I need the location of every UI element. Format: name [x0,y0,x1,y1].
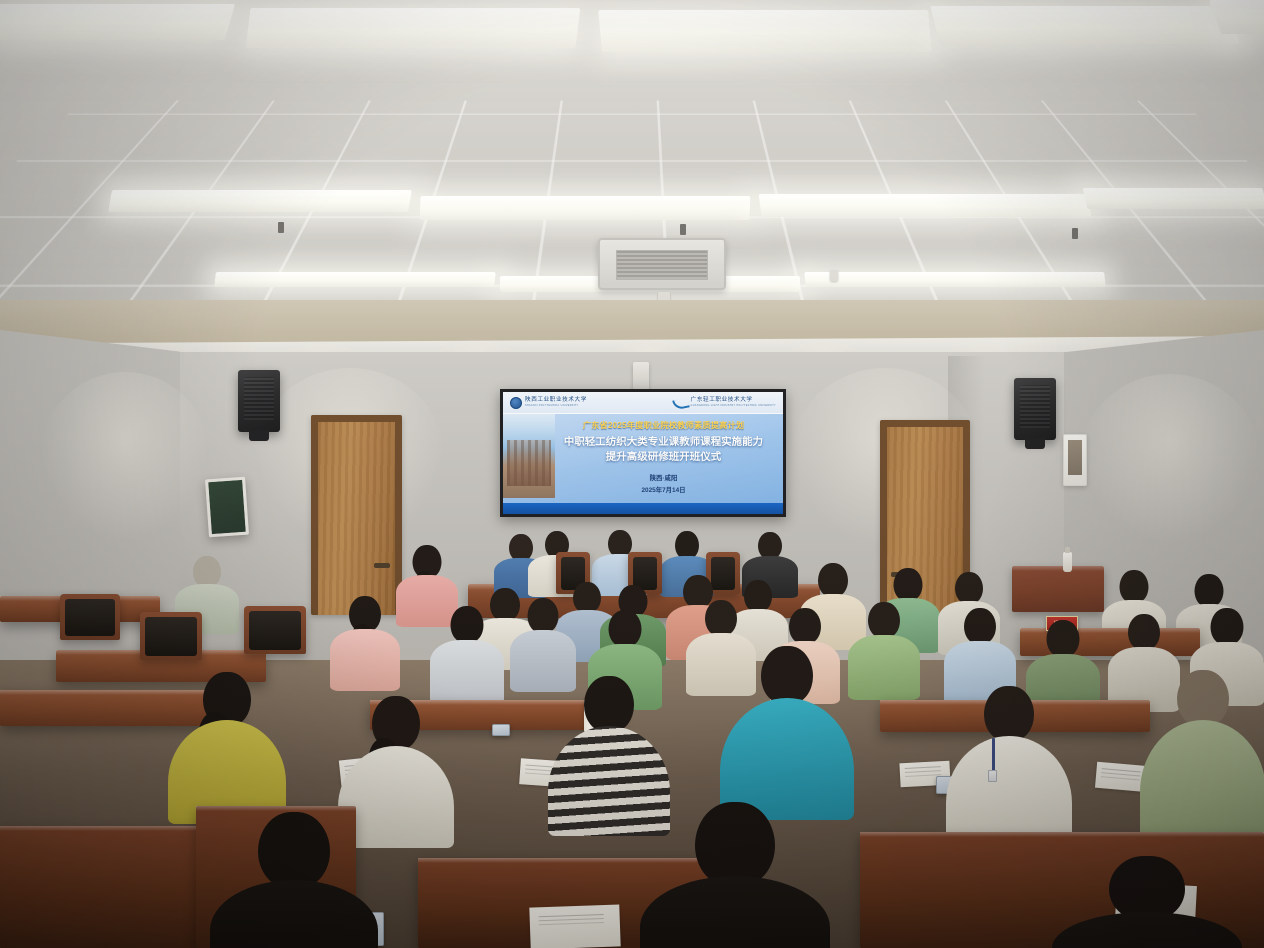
slide-date: 2025年7月14日 [641,485,685,496]
person-head [761,646,813,704]
person-torso [1052,912,1242,948]
projector-ceiling-mount [633,362,649,390]
wall-light-pool [40,372,210,542]
attendee [720,646,854,818]
speaker-bracket [1025,438,1045,449]
wall-light-pool [1080,374,1260,544]
side-credenza [1012,566,1104,612]
person-head [984,686,1034,741]
ceiling [0,0,1264,330]
person-head [609,610,642,647]
front-desk [0,826,210,948]
ceiling-light-panel [246,8,581,48]
attendee [946,686,1072,844]
person-head [528,598,559,633]
projection-screen: 陕西工业职业技术大学 SHAANXI POLYTECHNIC UNIVERSIT… [500,389,786,517]
attendee [430,606,504,702]
person-head [193,556,221,587]
logo-right-name-cn: 广东轻工职业技术大学 [691,398,776,404]
person-head [1195,574,1224,607]
conference-room-photo: 陕西工业职业技术大学 SHAANXI POLYTECHNIC UNIVERSIT… [0,0,1264,948]
ceiling-light-panel [598,10,932,52]
person-head [1109,856,1185,920]
person-torso [430,640,504,704]
attendee-foreground [210,812,378,948]
chair-cushion [145,617,197,656]
person-head [258,812,330,888]
door-handle-icon[interactable] [374,563,390,568]
person-head [451,606,484,643]
ceiling-light-panel [1083,188,1264,209]
person-head [695,802,775,886]
logo-right-name-en: GUANGDONG LIGHT INDUSTRY POLYTECHNIC UNI… [691,405,776,407]
ceiling-fixture-stud [680,224,686,235]
person-head [1211,608,1244,645]
ceiling-light-panel [930,6,1239,44]
wall-mounted-cabinet[interactable] [1063,434,1087,486]
person-head [818,563,848,597]
slide-city-illustration [503,414,555,498]
slide-logo-left: 陕西工业职业技术大学 SHAANXI POLYTECHNIC UNIVERSIT… [510,397,587,409]
slide-text-block: 广东省2025年度职业院校教师素质提高计划 中职轻工纺织大类专业课教师课程实施能… [549,416,778,502]
person-head [955,572,983,604]
person-head [1128,614,1160,650]
attendee-foreground [1052,856,1242,948]
sprinkler-head-icon [830,270,838,281]
ceiling-fixture-stud [1072,228,1078,239]
person-head [1047,620,1080,657]
audience-chair [244,606,306,654]
slide-logo-left-text: 陕西工业职业技术大学 SHAANXI POLYTECHNIC UNIVERSIT… [525,398,587,407]
chair-cushion [249,611,301,650]
attendee-foreground [640,802,830,948]
logo-left-name-en: SHAANXI POLYTECHNIC UNIVERSITY [525,405,587,407]
ceiling-ac-cassette-icon [598,238,726,290]
logo-left-name-cn: 陕西工业职业技术大学 [525,398,587,404]
smartphone [492,724,510,736]
person-torso [640,876,830,948]
person-head [894,568,923,601]
attendee [330,596,400,688]
slide-logo-right: 广东轻工职业技术大学 GUANGDONG LIGHT INDUSTRY POLY… [673,397,776,409]
hand-sanitizer-bottle [1063,552,1072,572]
audience-chair [140,612,202,660]
ceiling-light-panel [0,4,235,40]
person-head [868,602,900,638]
slide-logo-right-text: 广东轻工职业技术大学 GUANGDONG LIGHT INDUSTRY POLY… [691,398,776,407]
guangdong-university-emblem-icon [673,397,688,409]
slide-title-line-1: 中职轻工纺织大类专业课教师课程实施能力 [564,436,763,451]
speaker-bracket [249,430,269,441]
person-head [1120,570,1149,603]
person-head [1177,670,1229,726]
person-head [675,531,699,559]
ac-grill [616,250,708,280]
person-head [964,608,996,644]
person-head [705,600,737,636]
door-leaf [318,422,395,615]
ceiling-light-panel [108,190,412,212]
wall-speaker-right [1014,378,1056,440]
slide-footer-bar [503,503,783,514]
ceiling-light-panel [804,272,1106,287]
handout-paper [529,904,620,948]
name-badge [988,770,997,782]
ceiling-light-panel [420,196,751,220]
projected-slide: 陕西工业职业技术大学 SHAANXI POLYTECHNIC UNIVERSIT… [503,392,783,514]
ceiling-fixture-stud [278,222,284,233]
chair-cushion [65,599,115,636]
attendee [168,672,286,822]
attendee [848,602,920,698]
chalkboard [205,477,249,538]
slide-location: 陕西·咸阳 [650,473,678,484]
shaanxi-university-emblem-icon [510,397,522,409]
person-torso [1140,720,1264,840]
lanyard-strap [992,738,995,772]
ceiling-light-panel [214,272,496,287]
ceiling-light-panel [759,194,1092,217]
slide-logo-bar: 陕西工业职业技术大学 SHAANXI POLYTECHNIC UNIVERSIT… [503,392,783,414]
wall-speaker-left [238,370,280,432]
person-head [789,608,821,644]
person-torso [210,880,378,948]
person-torso [848,635,920,700]
audience-chair [60,594,120,640]
attendee [1140,670,1264,838]
slide-title-line-2: 提升高级研修班开班仪式 [606,451,721,466]
person-torso [330,629,400,691]
person-head [584,676,634,732]
person-head [573,582,601,613]
person-head [758,532,782,559]
slide-kicker: 广东省2025年度职业院校教师素质提高计划 [583,419,745,431]
door-left[interactable] [311,415,402,615]
